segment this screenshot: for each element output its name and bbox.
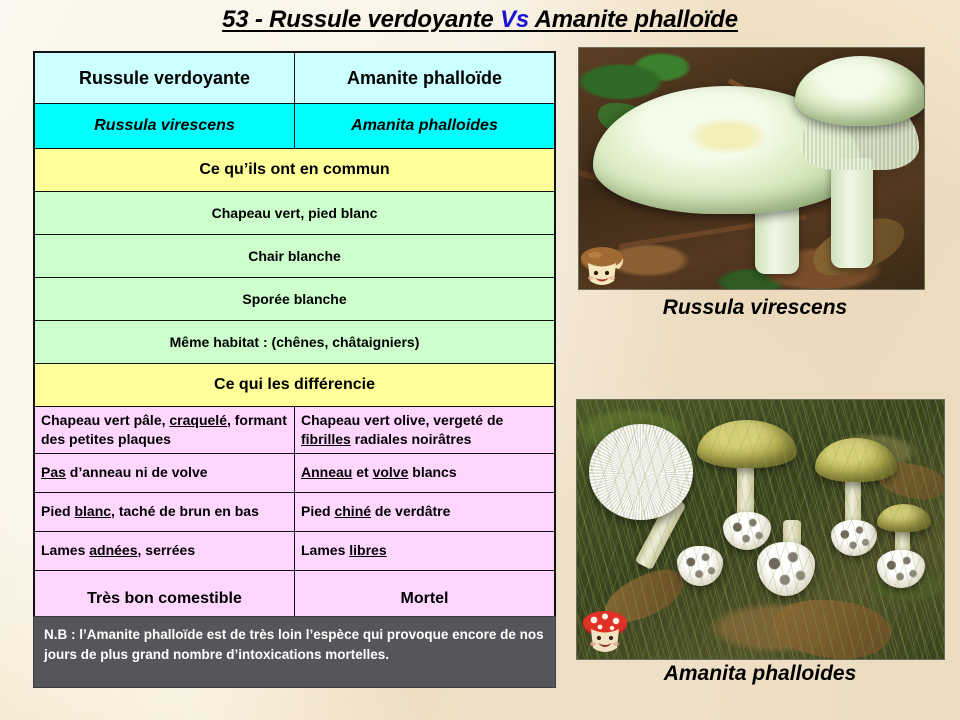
table-row-common-3: Même habitat : (chênes, châtaigniers) (35, 321, 555, 364)
common-cell-3: Même habitat : (chênes, châtaigniers) (35, 321, 555, 364)
table-row-diff-1: Pas d’anneau ni de volve Anneau et volve… (35, 453, 555, 492)
table-row-common-1: Chair blanche (35, 235, 555, 278)
header-cell-russule: Russule verdoyante (35, 53, 295, 104)
table-row-diff-2: Pied blanc, taché de brun en bas Pied ch… (35, 492, 555, 531)
diff-cell-right-1: Anneau et volve blancs (295, 453, 555, 492)
title-suffix: Amanite phalloïde (529, 6, 738, 33)
table-row-latin: Russula virescens Amanita phalloides (35, 104, 555, 149)
table-row-common-0: Chapeau vert, pied blanc (35, 192, 555, 235)
table-row-section-diff: Ce qui les différencie (35, 364, 555, 407)
diff-text: d’anneau ni de volve (66, 464, 208, 480)
diff-keyword: craquelé (169, 412, 227, 428)
diff-keyword: Pas (41, 464, 66, 480)
cap-center-highlight (689, 118, 767, 154)
diff-keyword: adnées (89, 542, 137, 558)
diff-cell-left-1: Pas d’anneau ni de volve (35, 453, 295, 492)
diff-text: de verdâtre (371, 503, 450, 519)
table-row-diff-0: Chapeau vert pâle, craquelé, formant des… (35, 407, 555, 454)
table-row-section-common: Ce qu’ils ont en commun (35, 149, 555, 192)
diff-keyword: Anneau (301, 464, 352, 480)
diff-text: Chapeau vert olive, vergeté de (301, 412, 503, 428)
diff-keyword: volve (373, 464, 409, 480)
section-header-diff: Ce qui les différencie (35, 364, 555, 407)
title-vs: Vs (500, 6, 529, 33)
diff-cell-right-3: Lames libres (295, 531, 555, 570)
photo-caption-russula: Russula virescens (560, 296, 950, 320)
latin-cell-russula: Russula virescens (35, 104, 295, 149)
diff-text: , serrées (138, 542, 196, 558)
page-title: 53 - Russule verdoyante Vs Amanite phall… (0, 6, 960, 34)
photo-amanita-phalloides (576, 399, 945, 660)
diff-cell-left-2: Pied blanc, taché de brun en bas (35, 492, 295, 531)
common-cell-1: Chair blanche (35, 235, 555, 278)
diff-cell-left-0: Chapeau vert pâle, craquelé, formant des… (35, 407, 295, 454)
table-row-diff-3: Lames adnées, serrées Lames libres (35, 531, 555, 570)
common-cell-0: Chapeau vert, pied blanc (35, 192, 555, 235)
diff-text: Pied (301, 503, 334, 519)
diff-text: radiales noirâtres (351, 431, 472, 447)
grass-blades-overlay (577, 400, 944, 659)
diff-cell-right-2: Pied chiné de verdâtre (295, 492, 555, 531)
slide-root: 53 - Russule verdoyante Vs Amanite phall… (0, 0, 960, 720)
diff-text: Chapeau vert pâle, (41, 412, 169, 428)
diff-text: Lames (41, 542, 89, 558)
mushroom-stem (831, 158, 873, 268)
header-cell-amanite: Amanite phalloïde (295, 53, 555, 104)
diff-text: , taché de brun en bas (111, 503, 259, 519)
mushroom-mascot-red-icon (582, 608, 628, 656)
table-row-common-2: Sporée blanche (35, 278, 555, 321)
latin-cell-amanita: Amanita phalloides (295, 104, 555, 149)
photo-russula-virescens (578, 47, 925, 290)
diff-cell-left-3: Lames adnées, serrées (35, 531, 295, 570)
mushroom-mascot-brown-icon (580, 243, 626, 291)
comparison-table: Russule verdoyante Amanite phalloïde Rus… (33, 51, 556, 629)
diff-keyword: blanc (74, 503, 111, 519)
diff-cell-right-0: Chapeau vert olive, vergeté de fibrilles… (295, 407, 555, 454)
diff-text: Lames (301, 542, 349, 558)
section-header-common: Ce qu’ils ont en commun (35, 149, 555, 192)
table-row-headers: Russule verdoyante Amanite phalloïde (35, 53, 555, 104)
diff-keyword: fibrilles (301, 431, 351, 447)
title-prefix: 53 - Russule verdoyante (222, 6, 500, 33)
diff-text: Pied (41, 503, 74, 519)
diff-keyword: libres (349, 542, 386, 558)
diff-text: et (352, 464, 372, 480)
diff-text: blancs (408, 464, 456, 480)
photo-caption-amanita: Amanita phalloides (560, 662, 960, 686)
note-box: N.B : l’Amanite phalloïde est de très lo… (33, 616, 556, 688)
diff-keyword: chiné (334, 503, 371, 519)
common-cell-2: Sporée blanche (35, 278, 555, 321)
